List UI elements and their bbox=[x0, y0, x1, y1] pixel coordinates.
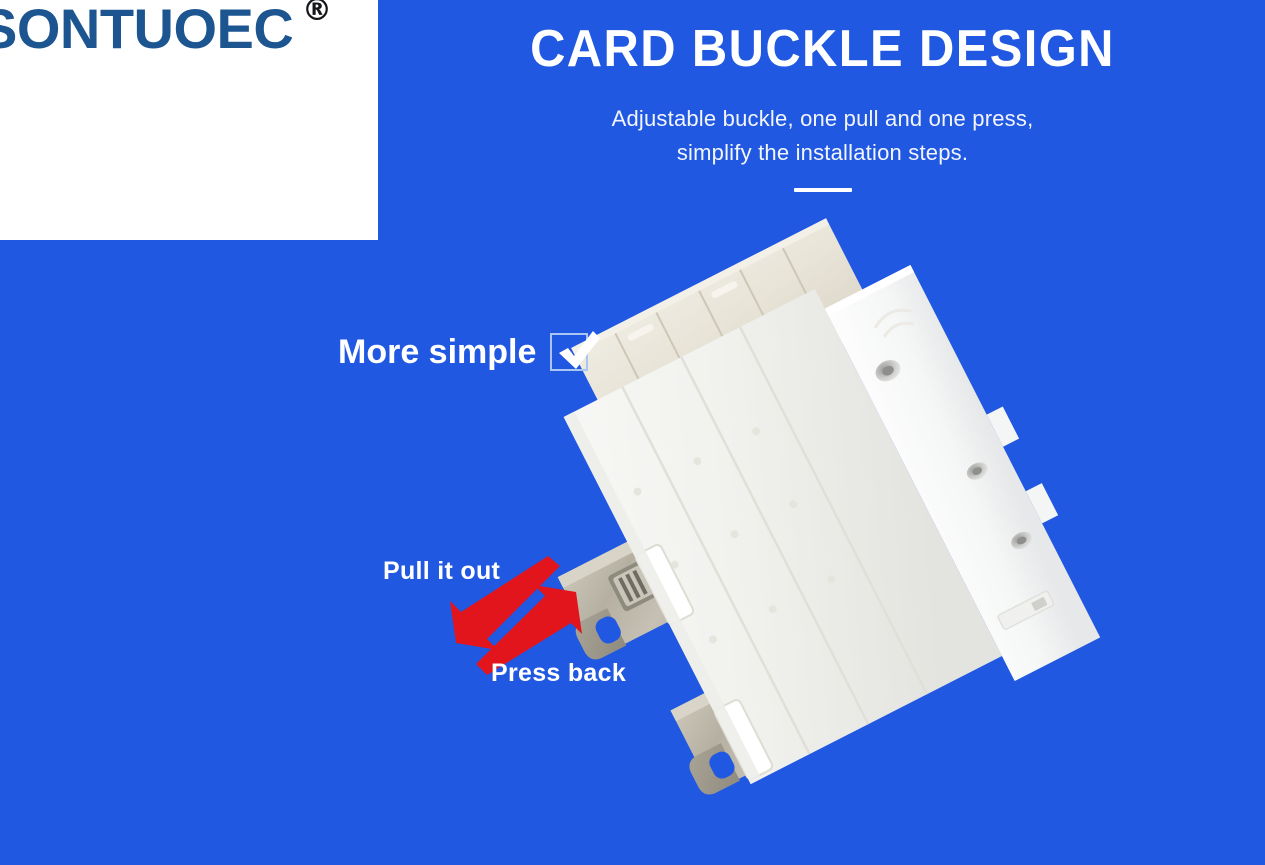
title-divider bbox=[794, 188, 852, 192]
checkbox bbox=[550, 333, 588, 371]
breaker-top-face bbox=[571, 218, 880, 455]
subtitle-group: Adjustable buckle, one pull and one pres… bbox=[380, 102, 1265, 170]
header-block: CARD BUCKLE DESIGN Adjustable buckle, on… bbox=[380, 18, 1265, 192]
buckle-latch-slots bbox=[634, 543, 773, 780]
annotation-pull-it-out: Pull it out bbox=[383, 556, 500, 586]
page-title: CARD BUCKLE DESIGN bbox=[407, 18, 1239, 80]
callout-label: More simple bbox=[338, 330, 536, 374]
registered-trademark-icon: ® bbox=[302, 0, 332, 26]
subtitle-line-1: Adjustable buckle, one pull and one pres… bbox=[380, 102, 1265, 136]
annotation-press-back: Press back bbox=[491, 658, 626, 688]
promo-banner: SONTUOEC ® CARD BUCKLE DESIGN Adjustable… bbox=[0, 0, 1265, 865]
more-simple-callout: More simple bbox=[338, 330, 588, 374]
brand-logo-plate: SONTUOEC ® bbox=[0, 0, 378, 240]
din-rail-clips bbox=[549, 493, 843, 817]
breaker-front-face bbox=[564, 289, 1002, 784]
subtitle-line-2: simplify the installation steps. bbox=[380, 136, 1265, 170]
check-icon bbox=[547, 322, 603, 378]
breaker-side-panel bbox=[825, 257, 1116, 681]
brand-wordmark: SONTUOEC bbox=[0, 0, 293, 60]
